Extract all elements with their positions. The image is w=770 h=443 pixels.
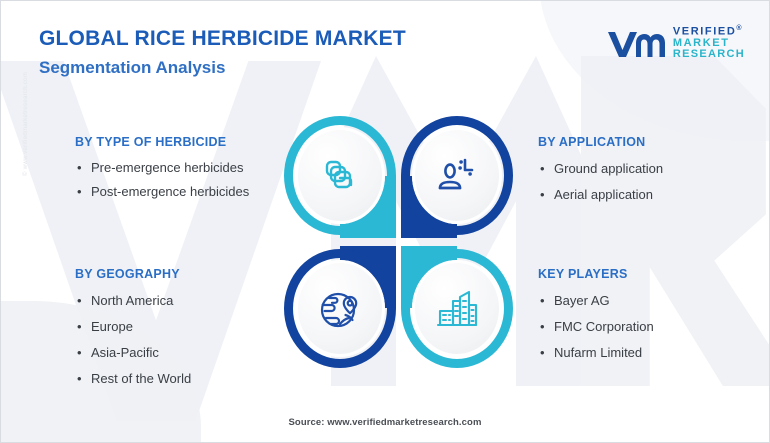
- segmentation-icon-cluster: [284, 113, 513, 371]
- segment-block-key-players: KEY PLAYERS Bayer AG FMC Corporation Nuf…: [538, 267, 654, 366]
- globe-location-icon: [317, 286, 363, 332]
- icon-quadrant-geography: [284, 246, 396, 371]
- quadrant-inner-disc: [295, 260, 385, 357]
- quadrant-inner-disc: [295, 127, 385, 224]
- segment-list-type: Pre-emergence herbicides Post-emergence …: [75, 156, 261, 204]
- segment-block-geography: BY GEOGRAPHY North America Europe Asia-P…: [75, 267, 191, 392]
- quadrant-inner-disc: [412, 260, 502, 357]
- segment-list-key-players: Bayer AG FMC Corporation Nufarm Limited: [538, 288, 654, 366]
- list-item: Aerial application: [538, 182, 663, 208]
- spray-applicator-icon: [434, 155, 480, 197]
- segment-list-application: Ground application Aerial application: [538, 156, 663, 208]
- segment-block-application: BY APPLICATION Ground application Aerial…: [538, 135, 663, 208]
- logo-line-verified: VERIFIED®: [673, 25, 745, 38]
- list-item: North America: [75, 288, 191, 314]
- city-buildings-icon: [434, 287, 480, 331]
- logo-wordmark: VERIFIED® MARKET RESEARCH: [673, 25, 745, 60]
- icon-quadrant-type: [284, 113, 396, 238]
- segment-block-type: BY TYPE OF HERBICIDE Pre-emergence herbi…: [75, 135, 261, 204]
- logo-line-research: RESEARCH: [673, 49, 745, 60]
- page-title: GLOBAL RICE HERBICIDE MARKET: [39, 27, 406, 51]
- stacked-layers-icon: [318, 154, 362, 198]
- segment-heading-type: BY TYPE OF HERBICIDE: [75, 135, 261, 149]
- segment-heading-geography: BY GEOGRAPHY: [75, 267, 191, 281]
- infographic-slide: GLOBAL RICE HERBICIDE MARKET Segmentatio…: [0, 0, 770, 443]
- side-copyright: © www.verifiedmarketresearch.com: [23, 72, 29, 176]
- list-item: Rest of the World: [75, 366, 191, 392]
- vmr-logo-icon: [607, 26, 665, 60]
- list-item: Bayer AG: [538, 288, 654, 314]
- quadrant-inner-disc: [412, 127, 502, 224]
- list-item: Europe: [75, 314, 191, 340]
- segment-heading-application: BY APPLICATION: [538, 135, 663, 149]
- list-item: Asia-Pacific: [75, 340, 191, 366]
- segment-heading-key-players: KEY PLAYERS: [538, 267, 654, 281]
- list-item: Ground application: [538, 156, 663, 182]
- icon-quadrant-key-players: [401, 246, 513, 371]
- list-item: Pre-emergence herbicides: [75, 156, 261, 180]
- background-blob-right: [539, 0, 770, 141]
- segment-list-geography: North America Europe Asia-Pacific Rest o…: [75, 288, 191, 392]
- source-caption: Source: www.verifiedmarketresearch.com: [1, 417, 769, 428]
- list-item: FMC Corporation: [538, 314, 654, 340]
- brand-logo: VERIFIED® MARKET RESEARCH: [607, 25, 745, 60]
- list-item: Nufarm Limited: [538, 340, 654, 366]
- registered-mark-icon: ®: [736, 25, 743, 32]
- list-item: Post-emergence herbicides: [75, 180, 261, 204]
- page-subtitle: Segmentation Analysis: [39, 58, 225, 78]
- icon-quadrant-application: [401, 113, 513, 238]
